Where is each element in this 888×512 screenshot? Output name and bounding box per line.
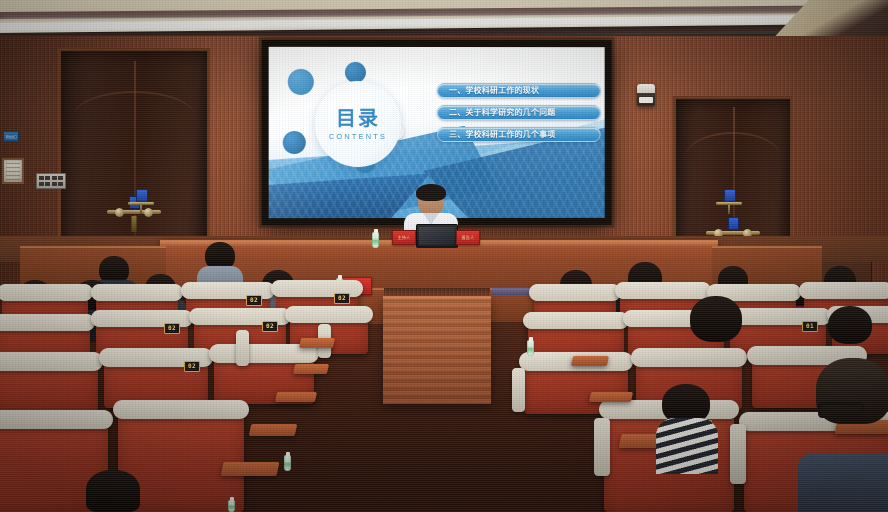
door-handle-left[interactable] <box>107 196 161 214</box>
person-head <box>690 296 742 342</box>
switch-toggle[interactable] <box>39 182 44 186</box>
person-head <box>828 306 872 344</box>
person-striped-shirt <box>656 418 718 474</box>
seat-number-plate: 01 <box>802 321 818 332</box>
door-arch-moulding <box>73 91 196 117</box>
slide-contents-badge: 目录 CONTENTS <box>315 81 401 167</box>
slide-toc-item-3: 三、学校科研工作的几个事项 <box>437 127 601 142</box>
slide-decor-circle <box>288 69 314 95</box>
wall-notice-frame <box>2 158 24 184</box>
laptop <box>416 224 458 248</box>
light-switch-panel[interactable] <box>36 173 66 189</box>
door-handle-right[interactable] <box>706 217 760 235</box>
switch-toggle[interactable] <box>45 182 50 186</box>
seat-number: 02 <box>250 297 258 304</box>
wall-speaker-icon <box>637 84 655 106</box>
seat-armrest <box>236 330 249 366</box>
aisle-podium-desk <box>383 296 491 404</box>
water-bottle <box>228 500 235 512</box>
presenter-hair <box>416 184 446 201</box>
person-head <box>86 470 140 512</box>
slide-decor-circle <box>345 62 366 83</box>
seat-armrest <box>594 418 610 476</box>
door-handle-bar-icon <box>107 210 161 214</box>
conference-hall-scene: 安全出口 <box>0 0 888 512</box>
switch-toggle[interactable] <box>52 182 57 186</box>
seat-number: 02 <box>338 295 346 302</box>
seat-armrest <box>512 368 525 412</box>
seat-number-plate: 02 <box>246 295 262 306</box>
person-shoulders <box>798 454 888 512</box>
switch-toggle[interactable] <box>52 176 57 180</box>
seat-number-plate: 02 <box>164 323 180 334</box>
seat-number: 02 <box>168 325 176 332</box>
switch-toggle[interactable] <box>58 182 63 186</box>
seat-armrest <box>730 424 746 484</box>
nameplate-left: 主持人 <box>392 230 416 245</box>
water-bottle <box>372 232 379 248</box>
seat-number: 02 <box>266 323 274 330</box>
seat-number-plate: 02 <box>334 293 350 304</box>
seat-number-plate: 02 <box>262 321 278 332</box>
door-lock-plate-icon <box>728 217 739 230</box>
slide-toc-label: 三、学校科研工作的几个事项 <box>449 129 555 140</box>
exit-sign: 安全出口 <box>3 131 19 142</box>
switch-toggle[interactable] <box>58 176 63 180</box>
tablet-writing-arm[interactable] <box>589 392 633 402</box>
door-arch-moulding <box>685 132 781 158</box>
door-handle-bar-icon <box>706 231 760 235</box>
seat-number: 02 <box>188 363 196 370</box>
notice-line <box>6 167 20 169</box>
water-bottle <box>284 455 291 471</box>
eyeglasses-icon <box>818 402 864 418</box>
slide-heading-en: CONTENTS <box>329 131 387 140</box>
tablet-writing-arm[interactable] <box>221 462 280 476</box>
nameplate-text: 主持人 <box>398 235 411 241</box>
tablet-writing-arm[interactable] <box>299 338 335 348</box>
tablet-writing-arm[interactable] <box>275 392 317 402</box>
nameplate-text: 报告人 <box>462 235 475 241</box>
notice-line <box>6 179 20 181</box>
door-handle-stem-icon <box>132 216 137 232</box>
notice-line <box>6 175 20 177</box>
slide-toc-label: 二、关于科学研究的几个问题 <box>449 107 555 118</box>
switch-toggle[interactable] <box>39 176 44 180</box>
seat-number: 01 <box>806 323 814 330</box>
microphone-left-icon <box>140 198 142 214</box>
seat-number-plate: 02 <box>184 361 200 372</box>
tablet-writing-arm[interactable] <box>249 424 298 436</box>
microphone-right-icon <box>728 198 730 214</box>
slide-heading-cn: 目录 <box>336 107 380 128</box>
nameplate-right: 报告人 <box>456 230 480 245</box>
notice-line <box>6 163 20 165</box>
tablet-writing-arm[interactable] <box>571 356 609 366</box>
slide-toc-item-1: 一、学校科研工作的现状 <box>437 83 601 98</box>
slide-toc-list: 一、学校科研工作的现状 二、关于科学研究的几个问题 三、学校科研工作的几个事项 <box>437 83 601 149</box>
switch-toggle[interactable] <box>45 176 50 180</box>
water-bottle <box>527 340 534 356</box>
slide-toc-item-2: 二、关于科学研究的几个问题 <box>437 105 601 120</box>
slide-toc-label: 一、学校科研工作的现状 <box>449 85 539 96</box>
seat[interactable] <box>0 356 98 412</box>
tablet-writing-arm[interactable] <box>293 364 329 374</box>
notice-line <box>6 171 20 173</box>
slide-decor-circle <box>283 131 306 154</box>
